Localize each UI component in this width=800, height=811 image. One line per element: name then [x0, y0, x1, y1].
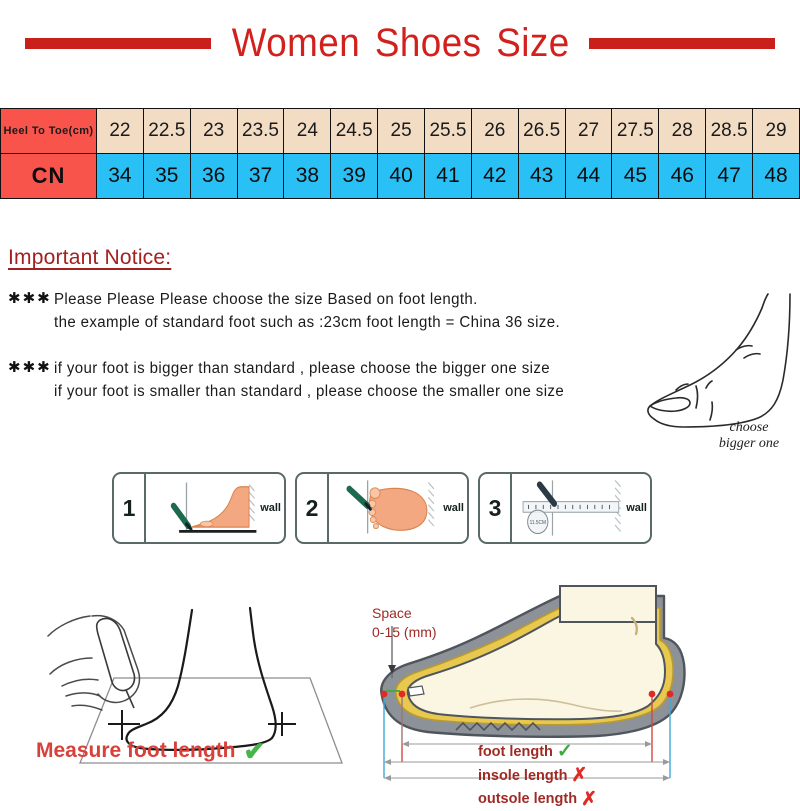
cell-cm-0: 22	[97, 109, 144, 154]
notice-line-1: Please Please Please choose the size Bas…	[54, 288, 478, 311]
cell-cm-1: 22.5	[143, 109, 190, 154]
cell-cn-5: 39	[331, 154, 378, 199]
step-2: 2 wall	[295, 472, 469, 544]
cell-cn-6: 40	[378, 154, 425, 199]
cell-cm-12: 28	[659, 109, 706, 154]
step-2-wall-label: wall	[443, 502, 464, 514]
notice-bullet-2: ✱✱✱ if your foot is bigger than standard…	[8, 357, 708, 380]
cell-cn-1: 35	[143, 154, 190, 199]
measurement-steps: 1 wall	[112, 472, 652, 544]
page-title-row: WomenShoesSize	[0, 16, 800, 70]
shoe-measurement-labels: foot length ✓ insole length ✗ outsole le…	[478, 740, 738, 811]
notice-line-4-row: if your foot is smaller than standard , …	[8, 380, 708, 403]
notice-line-2: the example of standard foot such as :23…	[54, 311, 560, 334]
cell-cm-3: 23.5	[237, 109, 284, 154]
step-2-illustration: wall	[329, 474, 467, 542]
cell-cn-0: 34	[97, 154, 144, 199]
step-1-illustration: wall	[146, 474, 284, 542]
measure-foot-caption-text: Measure foot length	[36, 739, 236, 763]
cell-cm-14: 29	[753, 109, 800, 154]
title-rule-right	[589, 38, 775, 49]
measure-foot-caption: Measure foot length ✔	[36, 738, 326, 764]
size-table-container: Heel To Toe(cm) 22 22.5 23 23.5 24 24.5 …	[0, 108, 800, 199]
cell-cn-11: 45	[612, 154, 659, 199]
cell-cm-4: 24	[284, 109, 331, 154]
title-rule-left	[25, 38, 211, 49]
page-title: WomenShoesSize	[232, 21, 570, 66]
measurement-insole-length: insole length ✗	[478, 764, 738, 788]
cell-cm-9: 26.5	[518, 109, 565, 154]
choose-bigger-caption: choose bigger one	[694, 420, 800, 452]
asterisk-marker-icon: ✱✱✱	[8, 288, 54, 311]
row-header-heel-to-toe: Heel To Toe(cm)	[1, 109, 97, 154]
choose-caption-line-2: bigger one	[694, 436, 800, 452]
measurement-outsole-length-label: outsole length	[478, 790, 577, 808]
cell-cm-8: 26	[471, 109, 518, 154]
notice-body: ✱✱✱ Please Please Please choose the size…	[8, 288, 708, 403]
important-notice-section: Important Notice: ✱✱✱ Please Please Plea…	[8, 246, 708, 403]
row-header-cn: CN	[1, 154, 97, 199]
cell-cn-9: 43	[518, 154, 565, 199]
cell-cm-11: 27.5	[612, 109, 659, 154]
step-3: 3	[478, 472, 652, 544]
step-1-number: 1	[114, 474, 146, 542]
measurement-outsole-length: outsole length ✗	[478, 788, 738, 811]
notice-line-2-row: the example of standard foot such as :23…	[8, 311, 708, 334]
cell-cn-12: 46	[659, 154, 706, 199]
cell-cn-10: 44	[565, 154, 612, 199]
notice-bullet-1: ✱✱✱ Please Please Please choose the size…	[8, 288, 708, 311]
space-label-line-1: Space	[372, 604, 437, 623]
choose-caption-line-1: choose	[694, 420, 800, 436]
measurement-foot-length-label: foot length	[478, 743, 553, 761]
cell-cm-6: 25	[378, 109, 425, 154]
foot-length-check-icon: ✓	[557, 740, 573, 764]
notice-line-3: if your foot is bigger than standard , p…	[54, 357, 550, 380]
notice-heading: Important Notice:	[8, 246, 708, 270]
step-3-ruler-reading: 11.5CM	[530, 520, 546, 526]
cell-cm-13: 28.5	[706, 109, 753, 154]
step-3-number: 3	[480, 474, 512, 542]
step-3-illustration: 11.5CM wall	[512, 474, 650, 542]
cell-cn-2: 36	[190, 154, 237, 199]
cell-cn-3: 37	[237, 154, 284, 199]
title-word-shoes: Shoes	[375, 21, 482, 65]
cell-cn-4: 38	[284, 154, 331, 199]
step-1-wall-label: wall	[260, 502, 281, 514]
cell-cm-7: 25.5	[425, 109, 472, 154]
cell-cm-2: 23	[190, 109, 237, 154]
space-label-line-2: 0-15 (mm)	[372, 623, 437, 642]
notice-spacer	[8, 335, 708, 357]
step-1: 1 wall	[112, 472, 286, 544]
notice-line-4: if your foot is smaller than standard , …	[54, 380, 564, 403]
cell-cn-8: 42	[471, 154, 518, 199]
size-table: Heel To Toe(cm) 22 22.5 23 23.5 24 24.5 …	[0, 108, 800, 199]
measurement-foot-length: foot length ✓	[478, 740, 738, 764]
cell-cn-13: 47	[706, 154, 753, 199]
measurement-insole-length-label: insole length	[478, 767, 567, 785]
cell-cm-10: 27	[565, 109, 612, 154]
insole-length-cross-icon: ✗	[571, 764, 587, 788]
cell-cn-7: 41	[425, 154, 472, 199]
title-word-women: Women	[232, 21, 360, 65]
step-2-number: 2	[297, 474, 329, 542]
table-row-cn: CN 34 35 36 37 38 39 40 41 42 43 44 45 4…	[1, 154, 800, 199]
step-3-wall-label: wall	[626, 502, 647, 514]
size-chart-page: WomenShoesSize Heel To Toe(cm) 22 22.5 2…	[0, 0, 800, 800]
table-row-heel-to-toe: Heel To Toe(cm) 22 22.5 23 23.5 24 24.5 …	[1, 109, 800, 154]
cell-cm-5: 24.5	[331, 109, 378, 154]
cell-cn-14: 48	[753, 154, 800, 199]
space-annotation: Space 0-15 (mm)	[372, 604, 437, 642]
asterisk-marker-icon-2: ✱✱✱	[8, 357, 54, 380]
title-word-size: Size	[497, 21, 570, 65]
outsole-length-cross-icon: ✗	[581, 788, 597, 811]
check-mark-icon: ✔	[244, 738, 266, 764]
